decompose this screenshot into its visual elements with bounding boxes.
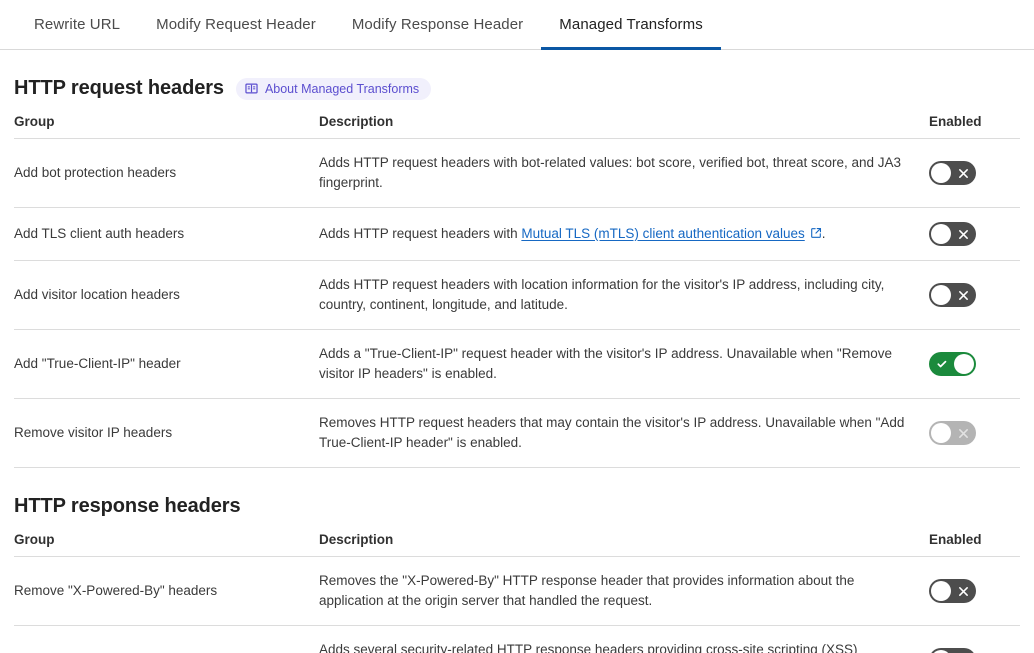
section-http-response-headers: HTTP response headers Group Description … <box>14 468 1020 653</box>
row-description-text: Removes the "X-Powered-By" HTTP response… <box>319 571 909 611</box>
column-header-enabled: Enabled <box>929 524 1020 557</box>
column-header-description: Description <box>319 524 929 557</box>
section-title: HTTP request headers <box>14 77 224 100</box>
tab-modify-request-header[interactable]: Modify Request Header <box>138 0 334 49</box>
table-row: Add "True-Client-IP" header Adds a "True… <box>14 330 1020 399</box>
tab-modify-response-header[interactable]: Modify Response Header <box>334 0 541 49</box>
cross-icon <box>951 579 976 603</box>
column-header-group: Group <box>14 106 319 139</box>
tab-label: Managed Transforms <box>559 16 703 33</box>
toggle-remove-x-powered-by-headers[interactable] <box>929 579 976 603</box>
link-label: Mutual TLS (mTLS) client authentication … <box>521 226 804 241</box>
row-enabled-cell <box>929 208 1020 261</box>
toggle-add-true-client-ip-header[interactable] <box>929 352 976 376</box>
cross-icon <box>951 161 976 185</box>
row-description: Adds a "True-Client-IP" request header w… <box>319 330 929 399</box>
row-group-label: Remove visitor IP headers <box>14 399 319 468</box>
column-header-enabled: Enabled <box>929 106 1020 139</box>
cross-icon <box>951 421 976 445</box>
about-managed-transforms-badge[interactable]: About Managed Transforms <box>236 78 431 100</box>
row-group-label: Add TLS client auth headers <box>14 208 319 261</box>
section-header: HTTP response headers <box>14 468 1020 524</box>
mtls-documentation-link[interactable]: Mutual TLS (mTLS) client authentication … <box>521 226 804 241</box>
tab-rewrite-url[interactable]: Rewrite URL <box>16 0 138 49</box>
column-header-group: Group <box>14 524 319 557</box>
row-description: Adds HTTP request headers with location … <box>319 261 929 330</box>
row-description-text: Adds a "True-Client-IP" request header w… <box>319 344 909 384</box>
section-http-request-headers: HTTP request headers About Managed Trans… <box>14 50 1020 468</box>
row-enabled-cell <box>929 330 1020 399</box>
row-group-label: Add bot protection headers <box>14 139 319 208</box>
check-icon <box>929 352 954 376</box>
external-link-icon[interactable] <box>810 225 822 245</box>
toggle-knob <box>931 224 951 244</box>
row-group-label: Add security headers <box>14 626 319 653</box>
cross-icon <box>951 222 976 246</box>
tab-bar: Rewrite URL Modify Request Header Modify… <box>0 0 1034 50</box>
column-header-description: Description <box>319 106 929 139</box>
badge-label: About Managed Transforms <box>265 82 419 96</box>
table-row: Add visitor location headers Adds HTTP r… <box>14 261 1020 330</box>
table-row: Add bot protection headers Adds HTTP req… <box>14 139 1020 208</box>
toggle-add-tls-client-auth-headers[interactable] <box>929 222 976 246</box>
row-description-text: Removes HTTP request headers that may co… <box>319 413 909 453</box>
toggle-knob <box>954 354 974 374</box>
table-row: Add security headers Adds several securi… <box>14 626 1020 653</box>
row-description: Removes HTTP request headers that may co… <box>319 399 929 468</box>
section-header: HTTP request headers About Managed Trans… <box>14 50 1020 106</box>
table-row: Remove "X-Powered-By" headers Removes th… <box>14 557 1020 626</box>
row-description: Removes the "X-Powered-By" HTTP response… <box>319 557 929 626</box>
row-description-text: Adds HTTP request headers with Mutual TL… <box>319 224 909 245</box>
response-headers-table: Group Description Enabled Remove "X-Powe… <box>14 524 1020 653</box>
toggle-add-security-headers[interactable] <box>929 648 976 653</box>
tab-label: Modify Response Header <box>352 16 523 33</box>
toggle-knob <box>931 423 951 443</box>
row-description: Adds HTTP request headers with Mutual TL… <box>319 208 929 261</box>
cross-icon <box>951 648 976 653</box>
table-header-row: Group Description Enabled <box>14 106 1020 139</box>
row-group-label: Add "True-Client-IP" header <box>14 330 319 399</box>
toggle-add-visitor-location-headers[interactable] <box>929 283 976 307</box>
table-row: Add TLS client auth headers Adds HTTP re… <box>14 208 1020 261</box>
table-header-row: Group Description Enabled <box>14 524 1020 557</box>
request-headers-table: Group Description Enabled Add bot protec… <box>14 106 1020 468</box>
row-description-text: Adds HTTP request headers with bot-relat… <box>319 153 909 193</box>
table-row: Remove visitor IP headers Removes HTTP r… <box>14 399 1020 468</box>
toggle-knob <box>931 163 951 183</box>
toggle-remove-visitor-ip-headers <box>929 421 976 445</box>
row-enabled-cell <box>929 261 1020 330</box>
row-enabled-cell <box>929 557 1020 626</box>
row-description: Adds several security-related HTTP respo… <box>319 626 929 653</box>
row-enabled-cell <box>929 399 1020 468</box>
row-group-label: Add visitor location headers <box>14 261 319 330</box>
cross-icon <box>951 283 976 307</box>
tab-managed-transforms[interactable]: Managed Transforms <box>541 0 721 49</box>
tab-label: Rewrite URL <box>34 16 120 33</box>
book-icon <box>245 82 258 95</box>
section-title: HTTP response headers <box>14 495 241 518</box>
row-group-label: Remove "X-Powered-By" headers <box>14 557 319 626</box>
row-enabled-cell <box>929 626 1020 653</box>
row-enabled-cell <box>929 139 1020 208</box>
description-suffix: . <box>822 226 826 241</box>
page-content: HTTP request headers About Managed Trans… <box>0 50 1034 653</box>
row-description-text: Adds several security-related HTTP respo… <box>319 640 909 653</box>
toggle-add-bot-protection-headers[interactable] <box>929 161 976 185</box>
row-description-text: Adds HTTP request headers with location … <box>319 275 909 315</box>
toggle-knob <box>931 285 951 305</box>
row-description: Adds HTTP request headers with bot-relat… <box>319 139 929 208</box>
tab-label: Modify Request Header <box>156 16 316 33</box>
toggle-knob <box>931 581 951 601</box>
description-prefix: Adds HTTP request headers with <box>319 226 521 241</box>
